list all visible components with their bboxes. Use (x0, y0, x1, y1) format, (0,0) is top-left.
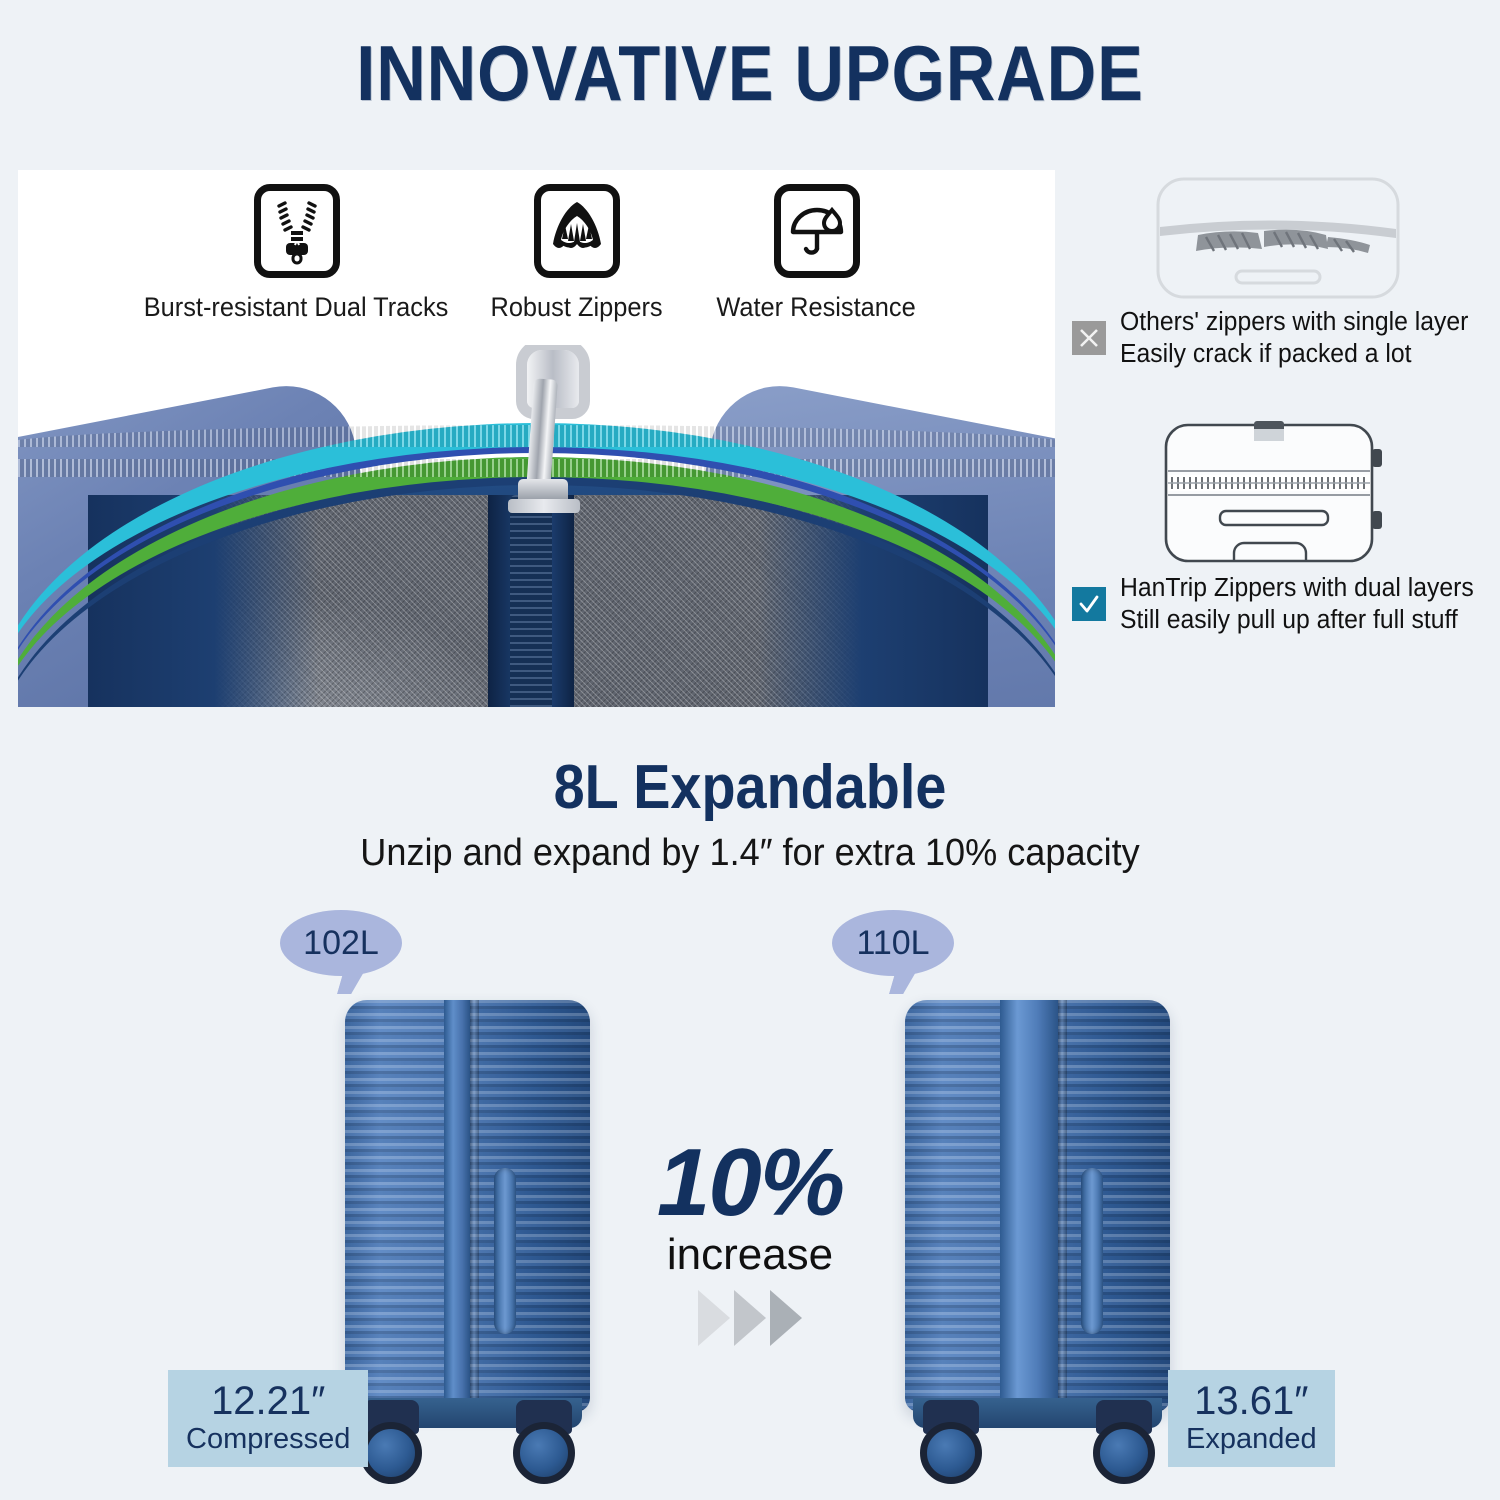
measure-label: Compressed (186, 1424, 350, 1455)
comparison-caption-others: Others' zippers with single layer Easily… (1072, 306, 1484, 370)
x-mark-icon (1072, 321, 1106, 355)
arrow-chevrons (0, 1290, 1500, 1346)
check-mark-icon (1072, 587, 1106, 621)
zipper-photo-panel: Burst-resistant Dual Tracks Rob (18, 170, 1055, 707)
capacity-bubble-label: 102L (303, 924, 379, 963)
comparison-line-1: HanTrip Zippers with dual layers (1120, 572, 1474, 604)
spinner-wheel-right (513, 1422, 575, 1484)
shark-jaws-icon (534, 184, 620, 278)
measure-label: Expanded (1186, 1424, 1317, 1455)
feature-burst-resistant-dual-tracks: Burst-resistant Dual Tracks (132, 184, 462, 323)
capacity-bubble-compressed: 102L (280, 910, 402, 976)
zipper-closeup-photo (18, 345, 1055, 707)
spinner-wheel-left (920, 1422, 982, 1484)
expandable-description: Unzip and expand by 1.4″ for extra 10% c… (38, 832, 1463, 875)
zipper-pull (496, 345, 586, 529)
expandable-title: 8L Expandable (75, 752, 1425, 823)
feature-robust-zippers: Robust Zippers (462, 184, 692, 323)
increase-percent: 10% (0, 1128, 1500, 1238)
increase-percent-label: increase (0, 1230, 1500, 1280)
measure-value: 13.61″ (1194, 1379, 1308, 1423)
chevron-right-icon (734, 1290, 766, 1346)
suitcase-dual-zipper-illustration (1072, 418, 1484, 570)
chevron-right-icon (698, 1290, 730, 1346)
feature-label: Robust Zippers (490, 292, 662, 323)
comparison-caption-hantrip: HanTrip Zippers with dual layers Still e… (1072, 572, 1484, 636)
comparison-item-hantrip: HanTrip Zippers with dual layers Still e… (1072, 418, 1484, 636)
zipper-comparison-column: Others' zippers with single layer Easily… (1072, 172, 1484, 652)
cracked-zipper-illustration (1072, 172, 1484, 304)
measure-badge-compressed: 12.21″ Compressed (168, 1370, 368, 1467)
feature-water-resistance: Water Resistance (692, 184, 942, 323)
measure-value: 12.21″ (211, 1379, 325, 1423)
capacity-bubble-label: 110L (856, 924, 929, 963)
feature-label: Burst-resistant Dual Tracks (144, 292, 449, 323)
comparison-line-2: Easily crack if packed a lot (1120, 338, 1468, 370)
chevron-right-icon (770, 1290, 802, 1346)
feature-icon-row: Burst-resistant Dual Tracks Rob (18, 184, 1055, 344)
comparison-line-2: Still easily pull up after full stuff (1120, 604, 1474, 636)
comparison-item-others: Others' zippers with single layer Easily… (1072, 172, 1484, 370)
page-title: INNOVATIVE UPGRADE (90, 28, 1410, 119)
zipper-slider-tabs (508, 499, 580, 513)
measure-badge-expanded: 13.61″ Expanded (1168, 1370, 1335, 1467)
umbrella-water-drop-icon (774, 184, 860, 278)
feature-label: Water Resistance (717, 292, 916, 323)
zipper-icon (254, 184, 340, 278)
capacity-bubble-expanded: 110L (832, 910, 954, 976)
spinner-wheel-left (360, 1422, 422, 1484)
comparison-line-1: Others' zippers with single layer (1120, 306, 1468, 338)
spinner-wheel-right (1093, 1422, 1155, 1484)
